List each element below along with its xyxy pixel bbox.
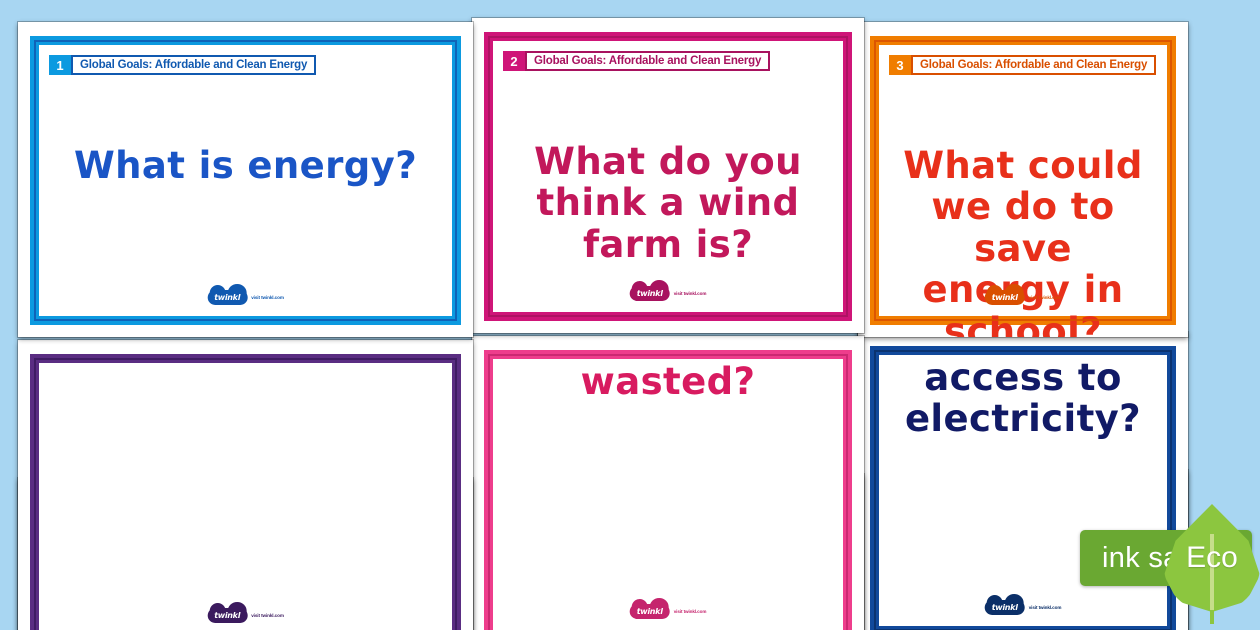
card-question-text: What could we do to save energy in schoo… bbox=[893, 145, 1152, 337]
twinkl-cloud-icon: twinkl bbox=[207, 290, 247, 305]
twinkl-url: visit twinkl.com bbox=[251, 613, 284, 618]
card-question-text: wasted? bbox=[511, 361, 826, 402]
card-header-title: Global Goals: Affordable and Clean Energ… bbox=[525, 51, 770, 71]
twinkl-wordmark: twinkl bbox=[992, 293, 1018, 302]
twinkl-wordmark: twinkl bbox=[214, 611, 240, 620]
card-frame: 1Global Goals: Affordable and Clean Ener… bbox=[30, 36, 461, 325]
twinkl-logo: twinklvisit twinkl.com bbox=[985, 290, 1062, 305]
question-card[interactable]: 2Global Goals: Affordable and Clean Ener… bbox=[472, 18, 864, 333]
twinkl-url: visit twinkl.com bbox=[1029, 295, 1062, 300]
twinkl-logo: twinklvisit twinkl.com bbox=[207, 290, 284, 305]
twinkl-logo: twinklvisit twinkl.com bbox=[630, 286, 707, 301]
card-header: 1Global Goals: Affordable and Clean Ener… bbox=[49, 55, 316, 75]
twinkl-url: visit twinkl.com bbox=[1029, 605, 1062, 610]
card-frame: 2Global Goals: Affordable and Clean Ener… bbox=[484, 32, 852, 321]
twinkl-logo: twinklvisit twinkl.com bbox=[630, 604, 707, 619]
question-card[interactable]: 3Global Goals: Affordable and Clean Ener… bbox=[858, 22, 1188, 337]
leaf-icon: Eco bbox=[1164, 504, 1260, 612]
twinkl-url: visit twinkl.com bbox=[251, 295, 284, 300]
card-number-badge: 3 bbox=[889, 55, 911, 75]
twinkl-url: visit twinkl.com bbox=[674, 291, 707, 296]
question-card[interactable]: wasted?twinklvisit twinkl.com bbox=[472, 336, 864, 630]
card-question-text: What do you think a wind farm is? bbox=[511, 141, 826, 265]
eco-label: Eco bbox=[1186, 541, 1238, 575]
twinkl-cloud-icon: twinkl bbox=[985, 290, 1025, 305]
twinkl-wordmark: twinkl bbox=[637, 289, 663, 298]
twinkl-cloud-icon: twinkl bbox=[985, 600, 1025, 615]
card-frame: access to electricity?twinklvisit twinkl… bbox=[870, 346, 1176, 630]
card-question-text: access to electricity? bbox=[893, 357, 1152, 440]
card-frame: twinklvisit twinkl.com bbox=[30, 354, 461, 630]
card-number-badge: 2 bbox=[503, 51, 525, 71]
question-card[interactable]: twinklvisit twinkl.com bbox=[18, 340, 473, 630]
card-question-text: What is energy? bbox=[60, 145, 432, 186]
twinkl-wordmark: twinkl bbox=[637, 607, 663, 616]
twinkl-wordmark: twinkl bbox=[992, 603, 1018, 612]
twinkl-url: visit twinkl.com bbox=[674, 609, 707, 614]
card-frame: wasted?twinklvisit twinkl.com bbox=[484, 350, 852, 630]
card-header: 2Global Goals: Affordable and Clean Ener… bbox=[503, 51, 770, 71]
card-header: 3Global Goals: Affordable and Clean Ener… bbox=[889, 55, 1156, 75]
leaf-stem-base bbox=[1210, 610, 1214, 624]
ink-saving-eco-badge: ink saving Eco bbox=[1080, 530, 1260, 586]
twinkl-cloud-icon: twinkl bbox=[207, 608, 247, 623]
preview-canvas: 1Global Goals: Affordable and Clean Ener… bbox=[0, 0, 1260, 630]
twinkl-cloud-icon: twinkl bbox=[630, 604, 670, 619]
card-frame: 3Global Goals: Affordable and Clean Ener… bbox=[870, 36, 1176, 325]
twinkl-logo: twinklvisit twinkl.com bbox=[985, 600, 1062, 615]
twinkl-cloud-icon: twinkl bbox=[630, 286, 670, 301]
card-header-title: Global Goals: Affordable and Clean Energ… bbox=[911, 55, 1156, 75]
twinkl-logo: twinklvisit twinkl.com bbox=[207, 608, 284, 623]
card-header-title: Global Goals: Affordable and Clean Energ… bbox=[71, 55, 316, 75]
twinkl-wordmark: twinkl bbox=[214, 293, 240, 302]
card-number-badge: 1 bbox=[49, 55, 71, 75]
question-card[interactable]: 1Global Goals: Affordable and Clean Ener… bbox=[18, 22, 473, 337]
